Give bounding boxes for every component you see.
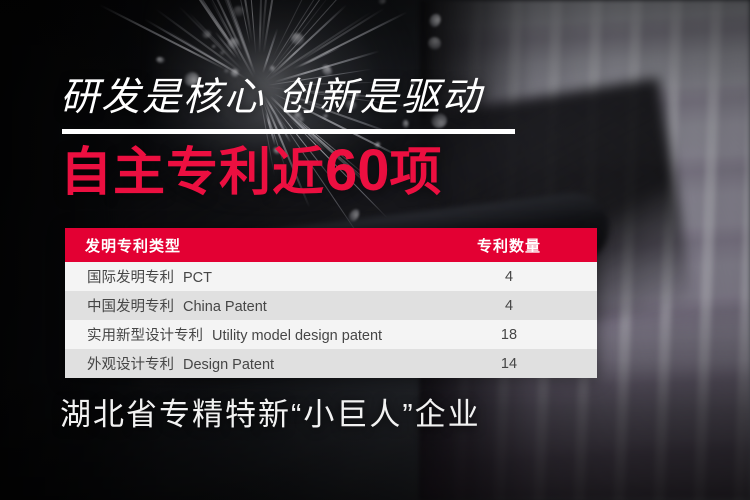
headline-divider xyxy=(62,129,515,134)
patent-type-en: Utility model design patent xyxy=(212,328,382,344)
table-row: 中国发明专利China Patent4 xyxy=(65,291,597,320)
table-cell-type: 中国发明专利China Patent xyxy=(65,295,429,316)
headline-title-prefix: 自主专利近 xyxy=(60,144,325,202)
patent-banner: 研发是核心 创新是驱动 自主专利近60项 发明专利类型 专利数量 国际发明专利P… xyxy=(0,0,750,500)
banner-caption: 湖北省专精特新“小巨人”企业 xyxy=(60,399,481,430)
patent-type-cn: 外观设计专利 xyxy=(87,357,174,373)
table-cell-type: 实用新型设计专利Utility model design patent xyxy=(65,324,429,345)
table-row: 外观设计专利Design Patent14 xyxy=(65,349,597,378)
table-row: 实用新型设计专利Utility model design patent18 xyxy=(65,320,597,349)
table-cell-count: 4 xyxy=(429,269,597,285)
table-cell-count: 4 xyxy=(429,298,597,314)
headline-title-number: 60 xyxy=(325,138,390,203)
table-cell-type: 外观设计专利Design Patent xyxy=(65,353,429,374)
table-body: 国际发明专利PCT4中国发明专利China Patent4实用新型设计专利Uti… xyxy=(65,262,597,378)
patent-type-en: PCT xyxy=(183,270,212,286)
patent-type-cn: 中国发明专利 xyxy=(87,299,174,315)
patent-table: 发明专利类型 专利数量 国际发明专利PCT4中国发明专利China Patent… xyxy=(65,228,597,378)
table-header-row: 发明专利类型 专利数量 xyxy=(65,228,597,262)
patent-type-cn: 国际发明专利 xyxy=(87,270,174,286)
table-header-type: 发明专利类型 xyxy=(65,235,429,256)
table-cell-count: 14 xyxy=(429,356,597,372)
table-row: 国际发明专利PCT4 xyxy=(65,262,597,291)
patent-type-en: China Patent xyxy=(183,299,267,315)
patent-type-en: Design Patent xyxy=(183,357,274,373)
headline-subtitle: 研发是核心 创新是驱动 xyxy=(60,78,483,117)
patent-type-cn: 实用新型设计专利 xyxy=(87,328,203,344)
headline-title: 自主专利近60项 xyxy=(60,142,443,200)
table-header-count: 专利数量 xyxy=(429,235,597,256)
table-cell-count: 18 xyxy=(429,327,597,343)
banner-content: 研发是核心 创新是驱动 自主专利近60项 发明专利类型 专利数量 国际发明专利P… xyxy=(0,0,750,500)
table-cell-type: 国际发明专利PCT xyxy=(65,266,429,287)
headline-title-suffix: 项 xyxy=(390,144,443,202)
